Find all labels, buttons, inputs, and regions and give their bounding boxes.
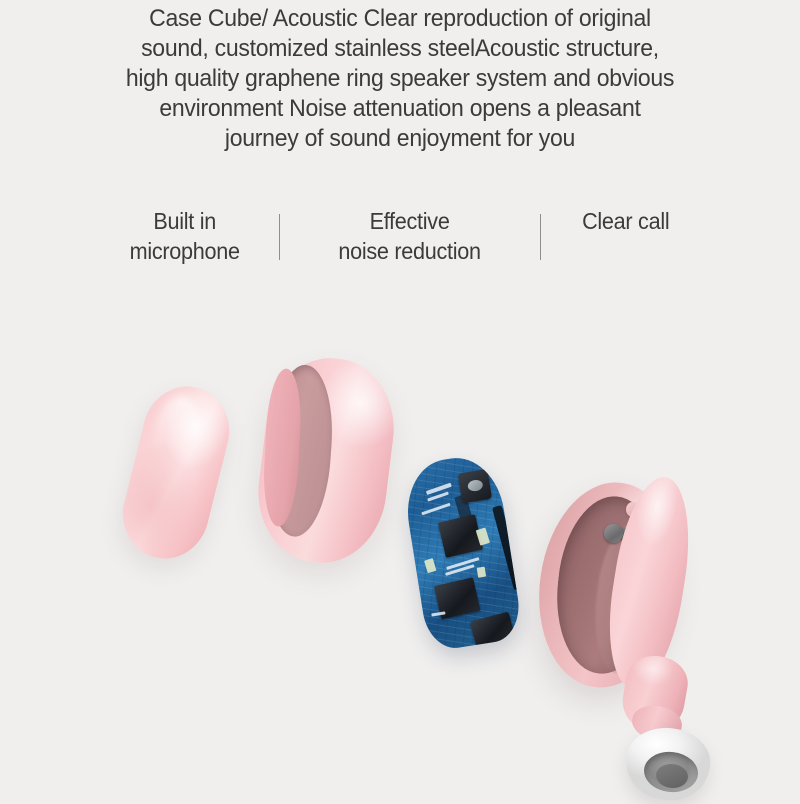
board-chip-3: [470, 611, 515, 646]
battery-capsule-part: [113, 377, 239, 568]
board-silkscreen-3: [421, 503, 450, 516]
earbud-contact-1: [604, 524, 623, 543]
exploded-view-illustration: [0, 330, 800, 800]
ring-housing-part: [250, 351, 402, 570]
feature-effective-noise-reduction: Effective noise reduction: [288, 206, 532, 266]
feature-clear-call: Clear call: [546, 206, 705, 236]
board-pad-1: [424, 558, 436, 573]
feature-built-in-microphone: Built in microphone: [96, 206, 274, 266]
feature-divider-2: [540, 214, 541, 260]
feature-divider-1: [279, 214, 280, 260]
feature-list: Built in microphone Effective noise redu…: [90, 206, 710, 286]
board-edge-connector: [492, 505, 524, 591]
circuit-board-part: [400, 452, 524, 653]
board-chip-1: [438, 514, 483, 558]
product-feature-image: Case Cube/ Acoustic Clear reproduction o…: [0, 0, 800, 800]
board-pad-3: [477, 567, 486, 578]
board-round-component: [458, 469, 492, 503]
page-title: Case Cube/ Acoustic Clear reproduction o…: [80, 4, 719, 154]
circuit-board-substrate: [400, 452, 524, 653]
earbud-part: [528, 470, 708, 800]
